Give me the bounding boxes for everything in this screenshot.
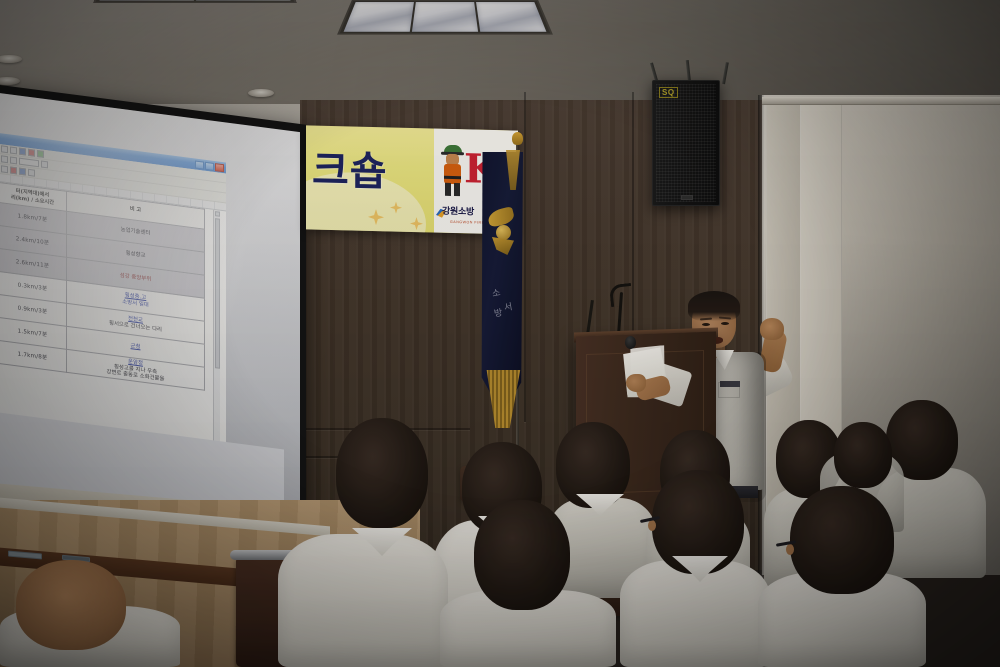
list-icon[interactable]: [10, 156, 17, 164]
ceiling-light-fixture-left: [93, 0, 297, 3]
font-select[interactable]: [19, 158, 39, 168]
audience-member-head: [834, 422, 892, 488]
maximize-button[interactable]: [205, 161, 214, 170]
flag-finial-icon: [512, 132, 523, 145]
close-button[interactable]: [215, 163, 224, 172]
align-left-icon[interactable]: [1, 155, 8, 163]
scroll-up-icon[interactable]: [215, 211, 220, 217]
new-doc-icon[interactable]: [1, 145, 8, 153]
open-icon[interactable]: [10, 146, 17, 154]
preview-icon[interactable]: [37, 150, 44, 158]
minimize-button[interactable]: [195, 160, 204, 169]
save-icon[interactable]: [19, 148, 26, 156]
audience-ear: [648, 520, 656, 531]
table-icon[interactable]: [1, 165, 8, 173]
speaker-hair: [688, 291, 740, 321]
audience-member-body: [278, 534, 448, 667]
banner-title: 크숍: [312, 138, 388, 198]
audience-member-head: [336, 418, 428, 528]
audience-member-head: [16, 560, 126, 650]
audience-member-head: [790, 486, 894, 594]
wall-panel-seam: [524, 92, 526, 422]
speaker-grille: [656, 84, 716, 202]
spreadsheet-sheet[interactable]: 터(지역대)에서 리(km) / 소요시간 비 고 1.8km/7분 농업기술센…: [0, 182, 226, 450]
flag-eagle-emblem-icon: [488, 205, 518, 263]
conference-room-scene: 터(지역대)에서 리(km) / 소요시간 비 고 1.8km/7분 농업기술센…: [0, 0, 1000, 667]
speaker-brand-logo: SQ: [659, 87, 678, 98]
audience-ear: [786, 544, 794, 555]
table-body: 1.8km/7분 농업기술센터 2.4km/10분 횡성향교 2.6km/11분…: [0, 202, 205, 390]
speaker-eye-left: [702, 323, 710, 326]
blind-track: [762, 97, 1000, 105]
border-icon[interactable]: [28, 169, 35, 177]
print-icon[interactable]: [28, 149, 35, 157]
color-icon[interactable]: [10, 166, 17, 174]
downlight-icon: [248, 89, 274, 97]
projected-app-window: 터(지역대)에서 리(km) / 소요시간 비 고 1.8km/7분 농업기술센…: [0, 133, 226, 453]
audience-member-head: [474, 500, 570, 610]
pa-speaker: SQ: [652, 80, 720, 206]
speaker-left-hand: [626, 374, 646, 392]
chart-icon[interactable]: [19, 168, 26, 176]
vertical-scrollbar[interactable]: [213, 210, 220, 449]
scrollbar-thumb[interactable]: [215, 218, 220, 369]
chevron-down-icon[interactable]: [41, 160, 48, 168]
ceiling-light-fixture: [337, 0, 553, 35]
logo-caption-ko: 강원소방: [442, 204, 474, 218]
microphone-head: [625, 336, 636, 349]
distance-table: 터(지역대)에서 리(km) / 소요시간 비 고 1.8km/7분 농업기술센…: [0, 182, 205, 391]
speaker-eye-right: [721, 322, 729, 325]
speaker-badge: [681, 195, 693, 200]
firefighter-mascot-icon: [440, 145, 466, 198]
speaker-name-tag: [720, 381, 740, 387]
speaker-raised-fist: [760, 318, 784, 340]
